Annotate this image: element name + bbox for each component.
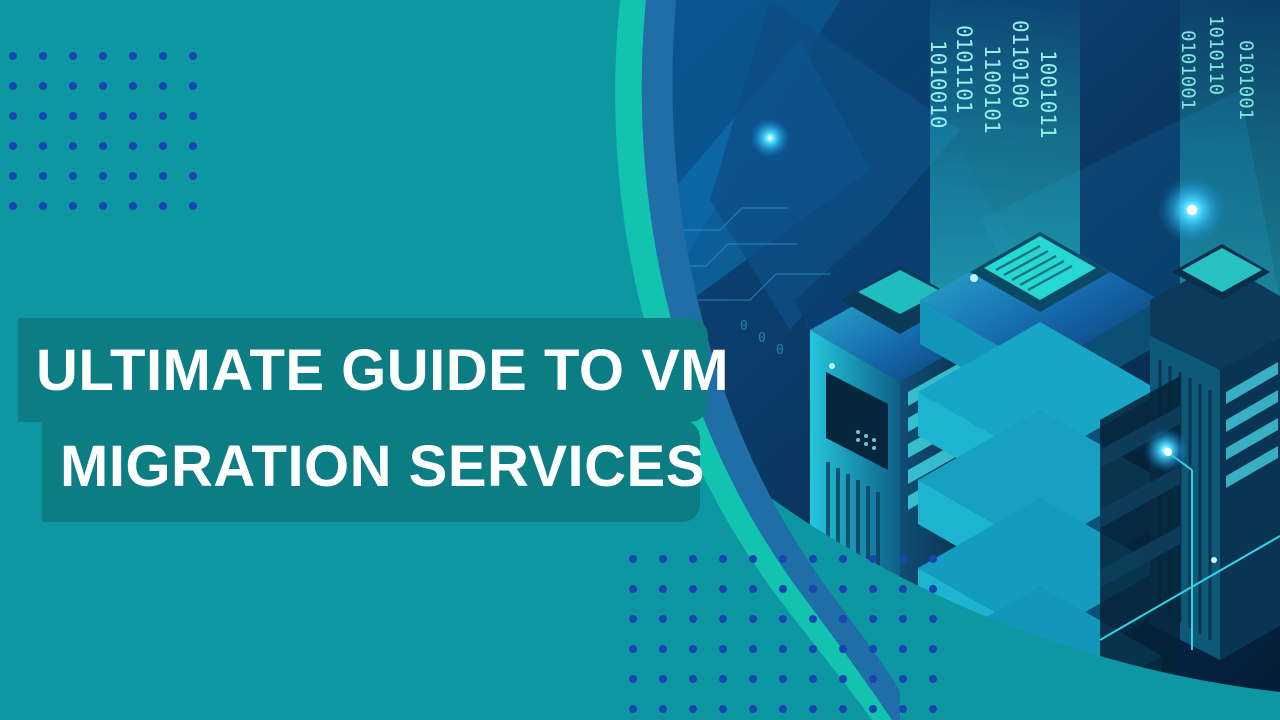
decor-dot (39, 142, 47, 150)
decor-dot (719, 705, 727, 713)
dot-row (0, 161, 208, 191)
dot-grid-bottom-right (618, 544, 948, 720)
decor-dot (39, 202, 47, 210)
decor-dot (9, 112, 17, 120)
decor-dot (809, 555, 817, 563)
dot-row (618, 664, 948, 694)
title-line-1: ULTIMATE GUIDE TO VM (18, 318, 708, 422)
decor-dot (869, 585, 877, 593)
decor-dot (899, 705, 907, 713)
decor-dot (659, 705, 667, 713)
decor-dot (899, 675, 907, 683)
decor-dot (629, 615, 637, 623)
decor-dot (749, 645, 757, 653)
decor-dot (809, 585, 817, 593)
decor-dot (809, 675, 817, 683)
decor-dot (719, 615, 727, 623)
decor-dot (39, 112, 47, 120)
decor-dot (659, 645, 667, 653)
decor-dot (779, 585, 787, 593)
decor-dot (159, 202, 167, 210)
decor-dot (159, 52, 167, 60)
decor-dot (929, 555, 937, 563)
decor-dot (719, 585, 727, 593)
decor-dot (689, 645, 697, 653)
decor-dot (899, 615, 907, 623)
decor-dot (99, 172, 107, 180)
decor-dot (629, 675, 637, 683)
decor-dot (839, 675, 847, 683)
decor-dot (189, 202, 197, 210)
decor-dot (629, 555, 637, 563)
decor-dot (39, 82, 47, 90)
decor-dot (929, 585, 937, 593)
decor-dot (189, 52, 197, 60)
decor-dot (159, 142, 167, 150)
decor-dot (839, 645, 847, 653)
svg-text:0101101: 0101101 (952, 25, 976, 114)
decor-dot (719, 675, 727, 683)
svg-text:1010010: 1010010 (926, 40, 950, 129)
svg-text:1010010: 1010010 (575, 60, 590, 115)
decor-dot (929, 705, 937, 713)
decor-dot (129, 142, 137, 150)
decor-dot (749, 675, 757, 683)
decor-dot (629, 645, 637, 653)
decor-dot (129, 172, 137, 180)
decor-dot (779, 705, 787, 713)
dot-grid-top-left (0, 41, 208, 221)
decor-dot (749, 555, 757, 563)
decor-dot (839, 555, 847, 563)
dot-row (618, 574, 948, 604)
decor-dot (159, 172, 167, 180)
svg-text:0: 0 (776, 343, 784, 358)
decor-dot (69, 112, 77, 120)
dot-row (618, 604, 948, 634)
svg-text:0101101: 0101101 (591, 60, 606, 115)
decor-dot (69, 52, 77, 60)
decor-dot (929, 615, 937, 623)
decor-dot (659, 675, 667, 683)
decor-dot (839, 615, 847, 623)
decor-dot (129, 112, 137, 120)
decor-dot (129, 202, 137, 210)
banner-title: ULTIMATE GUIDE TO VM MIGRATION SERVICES (0, 318, 708, 522)
decor-dot (39, 52, 47, 60)
decor-dot (39, 172, 47, 180)
decor-dot (689, 585, 697, 593)
svg-text:0110100: 0110100 (623, 60, 638, 115)
decor-dot (99, 142, 107, 150)
decor-dot (629, 585, 637, 593)
banner-root: 000 000 1010010 0101101 1100101 0110100 (0, 0, 1280, 720)
dot-row (0, 101, 208, 131)
decor-dot (899, 555, 907, 563)
dot-row (0, 131, 208, 161)
decor-dot (9, 82, 17, 90)
decor-dot (659, 585, 667, 593)
decor-dot (689, 705, 697, 713)
decor-dot (899, 645, 907, 653)
svg-text:1001011: 1001011 (1036, 50, 1060, 139)
decor-dot (869, 555, 877, 563)
decor-dot (749, 615, 757, 623)
decor-dot (9, 142, 17, 150)
decor-dot (809, 705, 817, 713)
decor-dot (69, 142, 77, 150)
decor-dot (689, 675, 697, 683)
decor-dot (69, 172, 77, 180)
decor-dot (659, 615, 667, 623)
decor-dot (129, 82, 137, 90)
decor-dot (189, 142, 197, 150)
decor-dot (869, 705, 877, 713)
decor-dot (929, 645, 937, 653)
decor-dot (689, 555, 697, 563)
decor-dot (159, 82, 167, 90)
decor-dot (869, 675, 877, 683)
svg-text:0110100: 0110100 (1008, 20, 1032, 109)
decor-dot (839, 585, 847, 593)
decor-dot (69, 82, 77, 90)
decor-dot (869, 615, 877, 623)
decor-dot (189, 82, 197, 90)
svg-text:1100101: 1100101 (607, 60, 622, 115)
decor-dot (99, 202, 107, 210)
decor-dot (9, 52, 17, 60)
svg-text:0: 0 (758, 331, 766, 346)
decor-dot (779, 615, 787, 623)
decor-dot (129, 52, 137, 60)
dot-row (0, 191, 208, 221)
decor-dot (69, 202, 77, 210)
decor-dot (749, 705, 757, 713)
decor-dot (869, 645, 877, 653)
decor-dot (779, 675, 787, 683)
dot-row (618, 634, 948, 664)
dot-row (0, 71, 208, 101)
decor-dot (899, 585, 907, 593)
decor-dot (749, 585, 757, 593)
dot-row (618, 544, 948, 574)
dot-row (618, 694, 948, 720)
decor-dot (779, 555, 787, 563)
decor-dot (659, 555, 667, 563)
svg-text:0: 0 (740, 319, 748, 334)
svg-text:0101001: 0101001 (1177, 30, 1199, 110)
decor-dot (839, 705, 847, 713)
decor-dot (9, 172, 17, 180)
svg-text:0101001: 0101001 (1235, 40, 1257, 120)
decor-dot (779, 645, 787, 653)
decor-dot (99, 112, 107, 120)
dot-row (0, 41, 208, 71)
decor-dot (719, 645, 727, 653)
decor-dot (719, 555, 727, 563)
decor-dot (929, 675, 937, 683)
decor-dot (629, 705, 637, 713)
decor-dot (99, 52, 107, 60)
decor-dot (159, 112, 167, 120)
title-line-2: MIGRATION SERVICES (42, 420, 700, 522)
decor-dot (809, 615, 817, 623)
decor-dot (809, 645, 817, 653)
decor-dot (189, 172, 197, 180)
decor-dot (99, 82, 107, 90)
svg-text:1100101: 1100101 (980, 45, 1004, 134)
svg-text:0: 0 (558, 89, 566, 104)
svg-text:1010110: 1010110 (1205, 15, 1227, 95)
decor-dot (689, 615, 697, 623)
decor-dot (189, 112, 197, 120)
decor-dot (9, 202, 17, 210)
